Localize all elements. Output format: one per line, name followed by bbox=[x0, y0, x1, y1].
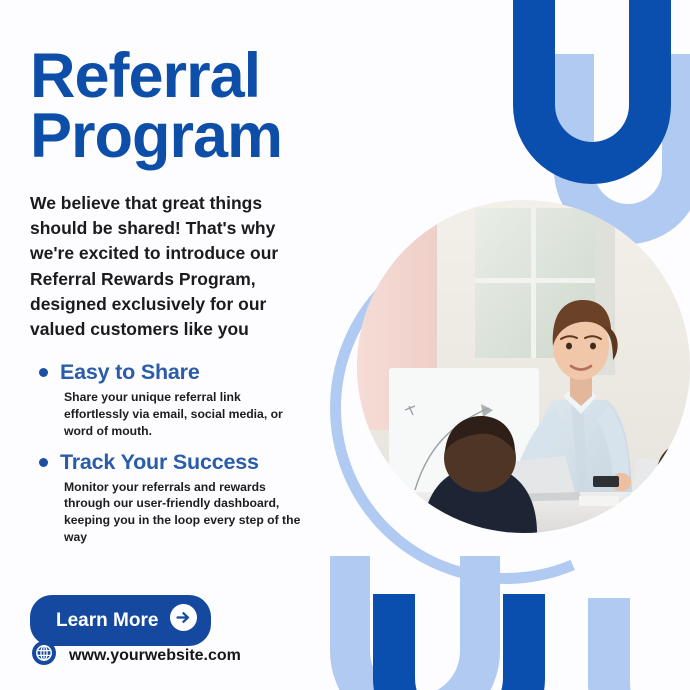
list-item: Easy to Share Share your unique referral… bbox=[30, 360, 360, 439]
intro-paragraph: We believe that great things should be s… bbox=[30, 191, 320, 342]
headline-line-2: Program bbox=[30, 106, 360, 166]
arrow-right-circle-icon bbox=[170, 604, 197, 637]
feature-title: Easy to Share bbox=[60, 360, 200, 385]
u-shape-mark-bottom-dark bbox=[373, 594, 545, 690]
hero-photo bbox=[357, 200, 690, 533]
footer: www.yourwebsite.com bbox=[32, 641, 241, 670]
feature-title: Track Your Success bbox=[60, 450, 259, 475]
learn-more-button[interactable]: Learn More bbox=[30, 595, 211, 646]
feature-heading-row: Easy to Share bbox=[30, 360, 360, 385]
feature-heading-row: Track Your Success bbox=[30, 450, 360, 475]
learn-more-label: Learn More bbox=[56, 610, 158, 632]
social-post-canvas: Referral Program We believe that great t… bbox=[0, 0, 690, 690]
u-shape-mark-right-light bbox=[588, 598, 690, 690]
bullet-dot-icon bbox=[39, 368, 48, 377]
page-title: Referral Program bbox=[30, 46, 360, 167]
feature-description: Share your unique referral link effortle… bbox=[64, 389, 309, 439]
headline-line-1: Referral bbox=[30, 46, 360, 106]
website-url: www.yourwebsite.com bbox=[69, 647, 241, 665]
bullet-dot-icon bbox=[39, 458, 48, 467]
globe-icon bbox=[32, 641, 56, 670]
u-shape-mark-top-dark bbox=[513, 0, 671, 184]
feature-description: Monitor your referrals and rewards throu… bbox=[64, 479, 309, 546]
feature-list: Easy to Share Share your unique referral… bbox=[30, 360, 360, 546]
content-column: Referral Program We believe that great t… bbox=[30, 46, 360, 556]
list-item: Track Your Success Monitor your referral… bbox=[30, 450, 360, 546]
